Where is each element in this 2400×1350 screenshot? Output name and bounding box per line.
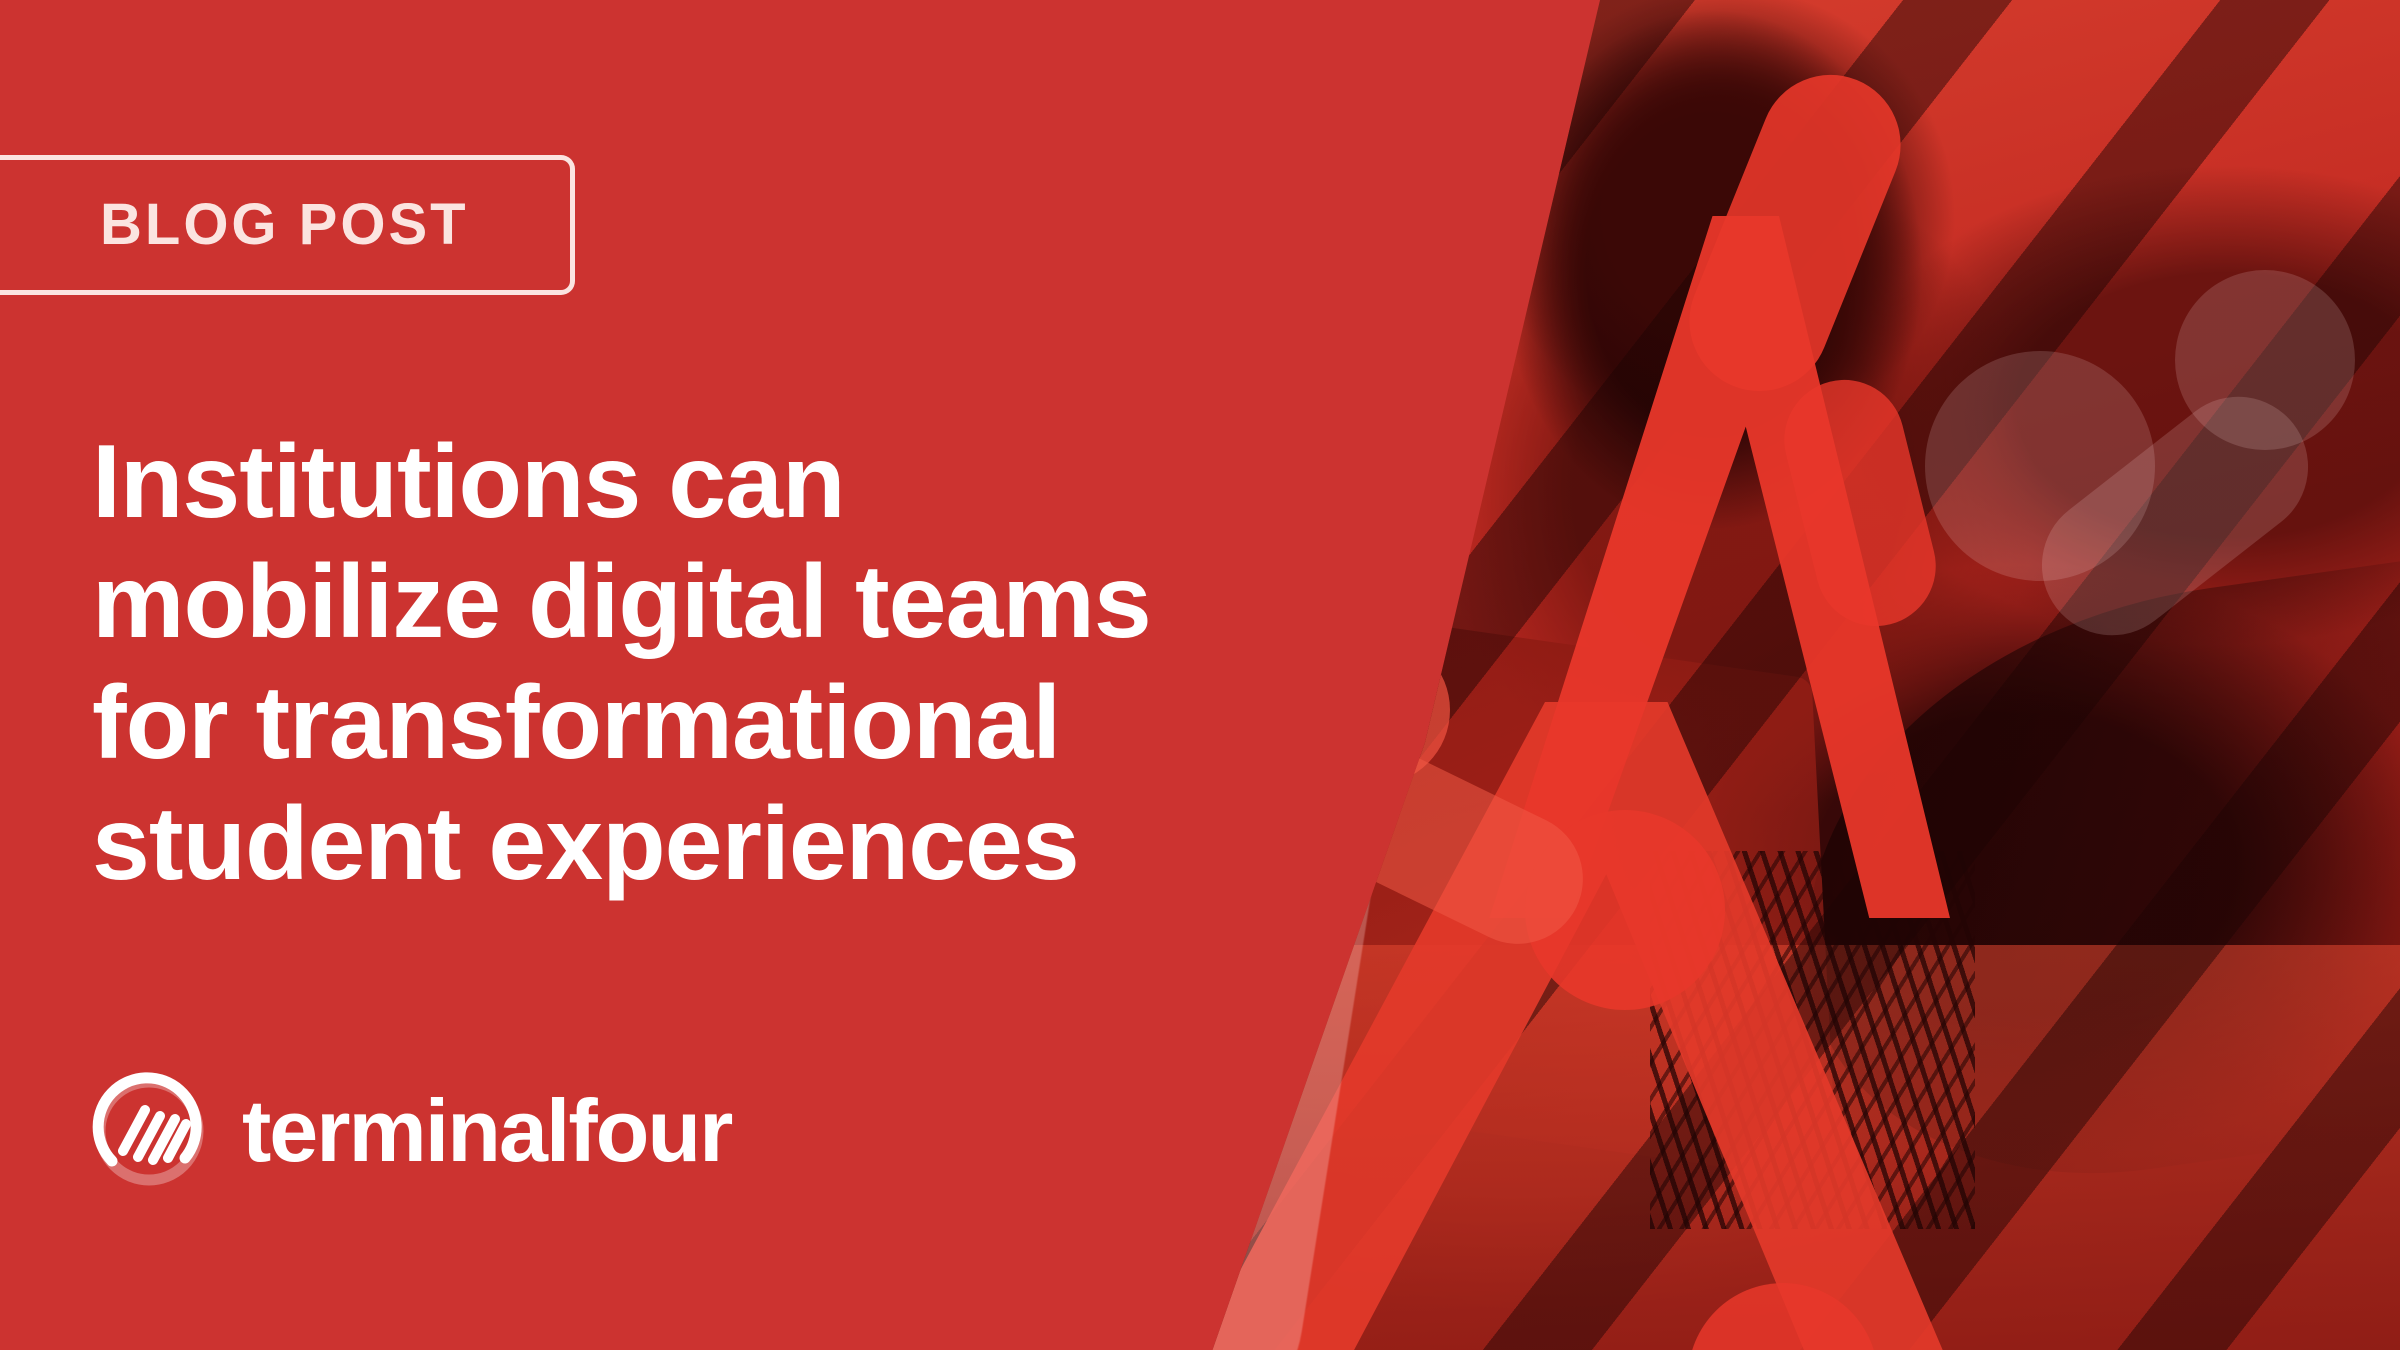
badge-outline: BLOG POST bbox=[0, 155, 575, 295]
brand-lockup: terminalfour bbox=[90, 1072, 731, 1190]
blog-post-social-card: BLOG POST Institutions can mobilize digi… bbox=[0, 0, 2400, 1350]
content-panel: BLOG POST Institutions can mobilize digi… bbox=[0, 0, 1300, 1350]
terminalfour-circle-slash-logo bbox=[90, 1072, 208, 1190]
brand-wordmark: terminalfour bbox=[242, 1087, 731, 1175]
badge-label: BLOG POST bbox=[100, 196, 469, 254]
artwork-panel bbox=[1150, 0, 2400, 1350]
page-title: Institutions can mobilize digital teams … bbox=[92, 422, 1252, 905]
artwork-clip bbox=[1150, 0, 2400, 1350]
